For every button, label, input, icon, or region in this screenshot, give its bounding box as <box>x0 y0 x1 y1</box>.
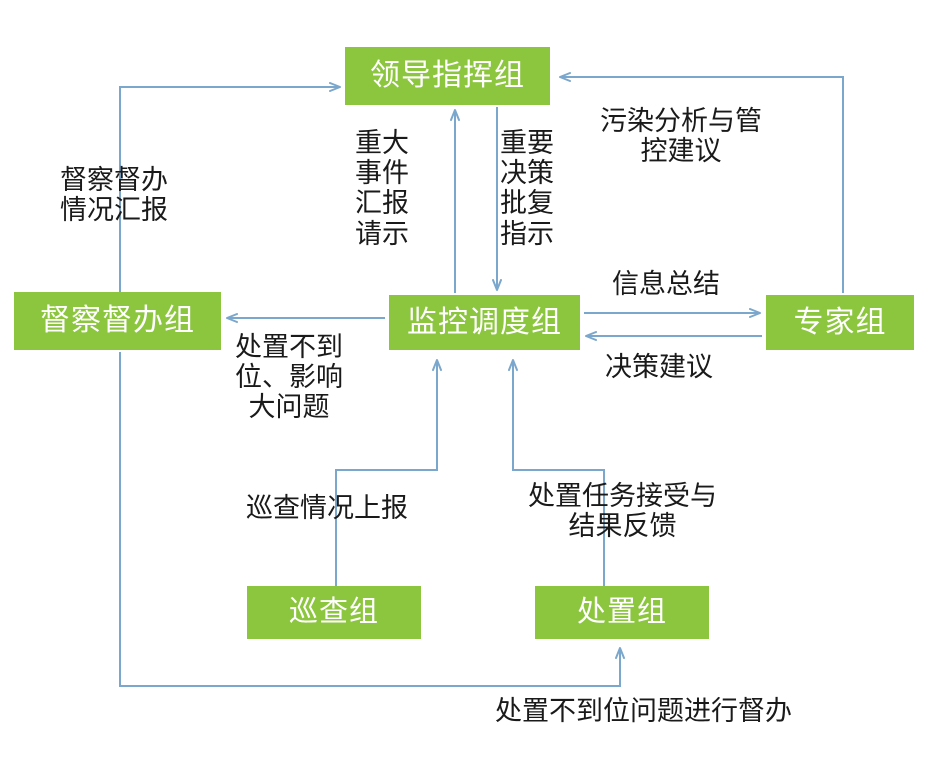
diagram-canvas: 领导指挥组 督察督办组 监控调度组 专家组 巡查组 处置组 督察督办 情况汇报 … <box>0 0 941 772</box>
node-monitor[interactable]: 监控调度组 <box>389 295 580 350</box>
edge-label-major-event: 重大 事件 汇报 请示 <box>355 128 409 249</box>
node-leader[interactable]: 领导指挥组 <box>345 47 550 105</box>
node-expert-label: 专家组 <box>794 308 887 338</box>
node-dispose-label: 处置组 <box>577 598 667 627</box>
connector-patrol-to-monitor <box>336 360 437 586</box>
connector-dispose-to-monitor <box>513 360 604 586</box>
edge-label-supervise-report: 督察督办 情况汇报 <box>60 165 168 225</box>
node-expert[interactable]: 专家组 <box>766 295 914 350</box>
edge-label-not-in-place: 处置不到 位、影响 大问题 <box>235 332 343 423</box>
edge-label-patrol-report: 巡查情况上报 <box>246 493 408 523</box>
node-dispose[interactable]: 处置组 <box>535 586 709 639</box>
connector-layer <box>0 0 941 772</box>
node-monitor-label: 监控调度组 <box>407 308 562 338</box>
edge-label-pollution-advice: 污染分析与管 控建议 <box>600 106 762 166</box>
edge-label-key-decision: 重要 决策 批复 指示 <box>500 128 554 249</box>
edge-label-decision-advice: 决策建议 <box>605 352 713 382</box>
edge-label-supervise-bottom: 处置不到位问题进行督办 <box>495 696 792 726</box>
edge-label-task-feedback: 处置任务接受与 结果反馈 <box>528 481 717 541</box>
node-supervise-label: 督察督办组 <box>40 306 195 336</box>
node-leader-label: 领导指挥组 <box>370 61 525 91</box>
node-supervise[interactable]: 督察督办组 <box>14 292 221 350</box>
node-patrol-label: 巡查组 <box>289 598 379 627</box>
edge-label-info-summary: 信息总结 <box>612 269 720 299</box>
node-patrol[interactable]: 巡查组 <box>247 586 421 639</box>
